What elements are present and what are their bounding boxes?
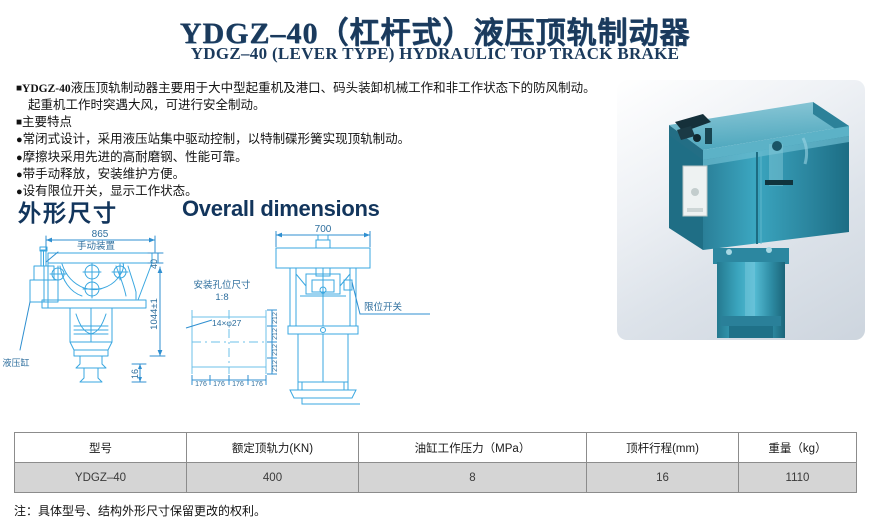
description-line-5-text: 摩擦块采用先进的高耐磨钢、性能可靠。 (23, 150, 248, 164)
description-line-3: ■主要特点 (16, 114, 616, 131)
description-line-1-text: 液压顶轨制动器主要用于大中型起重机及港口、码头装卸机械工作和非工作状态下的防风制… (71, 81, 596, 95)
description-line-4-text: 常闭式设计，采用液压站集中驱动控制，以特制碟形簧实现顶轨制动。 (23, 132, 411, 146)
circle-bullet-icon: ● (16, 134, 23, 146)
description-line-1: ■YDGZ-40液压顶轨制动器主要用于大中型起重机及港口、码头装卸机械工作和非工… (16, 80, 616, 97)
footnote: 注：具体型号、结构外形尺寸保留更改的权利。 (14, 502, 266, 519)
label-hydraulic-cylinder: 液压缸 (2, 357, 29, 368)
technical-drawings: 865 手动装置 40 1044±1 16 液压缸 安装孔位尺寸 1:8 14×… (0, 222, 600, 422)
table-cell-force: 400 (187, 463, 359, 493)
drawings-svg: 865 手动装置 40 1044±1 16 液压缸 安装孔位尺寸 1:8 14×… (0, 222, 600, 422)
hole-dim-h-4: 176 (251, 381, 263, 388)
circle-bullet-icon: ● (16, 152, 23, 164)
cylinder-bolt-1 (726, 249, 732, 255)
circle-bullet-icon: ● (16, 169, 23, 181)
model-inline: YDGZ-40 (22, 83, 71, 95)
table-cell-model: YDGZ–40 (15, 463, 187, 493)
dim-label-1044: 1044±1 (149, 298, 160, 330)
hole-dim-v-4: 212 (272, 360, 279, 372)
cylinder-flange-top (713, 248, 789, 264)
hole-dim-v-3: 212 (272, 344, 279, 356)
description-line-2: 起重机工作时突遇大风，可进行安全制动。 (16, 97, 616, 113)
hole-pattern-scale: 1:8 (215, 292, 228, 303)
table-header-cell-3: 顶杆行程(mm) (587, 433, 739, 463)
product-photo-svg (617, 80, 865, 340)
side-view-housing (30, 247, 152, 382)
hole-dim-h-1: 176 (195, 381, 207, 388)
leader-lines-side (20, 252, 58, 350)
dim-label-865: 865 (92, 229, 109, 240)
description-line-4: ●常闭式设计，采用液压站集中驱动控制，以特制碟形簧实现顶轨制动。 (16, 131, 616, 148)
side-fitting (705, 128, 712, 144)
table-header-row: 型号 额定顶轨力(KN) 油缸工作压力（MPa） 顶杆行程(mm) 重量（kg） (15, 433, 857, 463)
table-cell-pressure: 8 (359, 463, 587, 493)
table-header-cell-4: 重量（kg） (739, 433, 857, 463)
limit-switch-knob (691, 188, 699, 196)
description-line-5: ●摩擦块采用先进的高耐磨钢、性能可靠。 (16, 149, 616, 166)
label-manual-device: 手动装置 (77, 240, 115, 252)
table-cell-weight: 1110 (739, 463, 857, 493)
panel-bolt (772, 141, 782, 151)
table-row: YDGZ–40 400 8 16 1110 (15, 463, 857, 493)
table-cell-stroke: 16 (587, 463, 739, 493)
table-header-cell-0: 型号 (15, 433, 187, 463)
cylinder-bolt-2 (766, 247, 772, 253)
hole-dim-v-2: 212 (272, 328, 279, 340)
cylinder-ring (721, 316, 781, 326)
dim-label-16: 16 (130, 369, 140, 379)
table-header-cell-2: 油缸工作压力（MPa） (359, 433, 587, 463)
dim-label-40: 40 (149, 259, 159, 269)
table-header-cell-1: 额定顶轨力(KN) (187, 433, 359, 463)
hole-dim-h-2: 176 (213, 381, 225, 388)
product-photo (617, 80, 865, 340)
cylinder-rod-base (729, 326, 773, 338)
bolt-head (693, 134, 701, 142)
page-title-en: YDGZ–40 (LEVER TYPE) HYDRAULIC TOP TRACK… (0, 44, 870, 64)
description-line-6: ●带手动释放，安装维护方便。 (16, 166, 616, 183)
hole-pattern-title: 安装孔位尺寸 (193, 279, 251, 291)
datasheet-page: YDGZ–40（杠杆式）液压顶轨制动器 YDGZ–40 (LEVER TYPE)… (0, 0, 870, 526)
description-line-3-text: 主要特点 (22, 115, 72, 129)
specification-table: 型号 额定顶轨力(KN) 油缸工作压力（MPa） 顶杆行程(mm) 重量（kg）… (14, 432, 857, 493)
front-view-body (276, 235, 370, 404)
panel-label (765, 180, 793, 185)
limit-switch-plate (687, 208, 703, 212)
hole-dim-v-1: 212 (272, 312, 279, 324)
dim-label-700: 700 (315, 224, 332, 235)
description-block: ■YDGZ-40液压顶轨制动器主要用于大中型起重机及港口、码头装卸机械工作和非工… (16, 80, 616, 201)
section-heading-en: Overall dimensions (182, 196, 380, 222)
hole-dim-h-3: 176 (232, 381, 244, 388)
label-limit-switch: 限位开关 (364, 301, 403, 313)
description-line-6-text: 带手动释放，安装维护方便。 (23, 167, 186, 181)
hole-spec-label: 14×φ27 (212, 318, 242, 328)
